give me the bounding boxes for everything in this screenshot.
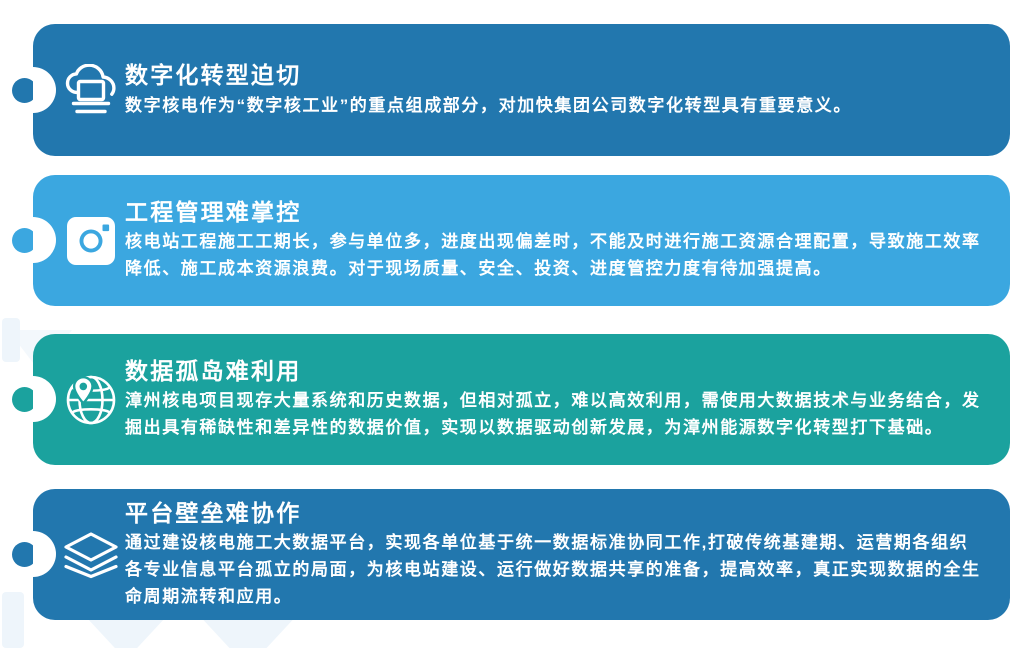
card-row[interactable]: 平台壁垒难协作 通过建设核电施工大数据平台，实现各单位基于统一数据标准协同工作,… <box>0 489 1027 620</box>
card-text: 数据孤岛难利用 漳州核电项目现存大量系统和历史数据，但相对孤立，难以高效利用，需… <box>125 357 1010 441</box>
card-title: 平台壁垒难协作 <box>125 499 984 528</box>
card-list: 数字化转型迫切 数字核电作为“数字核工业”的重点组成部分，对加快集团公司数字化转… <box>0 0 1027 648</box>
card-content: 平台壁垒难协作 通过建设核电施工大数据平台，实现各单位基于统一数据标准协同工作,… <box>33 489 1010 620</box>
cloud-monitor-icon <box>33 64 125 116</box>
globe-pin-icon <box>33 374 125 426</box>
card-text: 数字化转型迫切 数字核电作为“数字核工业”的重点组成部分，对加快集团公司数字化转… <box>125 61 1010 119</box>
card-title: 数据孤岛难利用 <box>125 357 984 386</box>
card-content: 数据孤岛难利用 漳州核电项目现存大量系统和历史数据，但相对孤立，难以高效利用，需… <box>33 334 1010 465</box>
card-description: 漳州核电项目现存大量系统和历史数据，但相对孤立，难以高效利用，需使用大数据技术与… <box>125 387 984 441</box>
card-text: 平台壁垒难协作 通过建设核电施工大数据平台，实现各单位基于统一数据标准协同工作,… <box>125 499 1010 610</box>
card-content: 数字化转型迫切 数字核电作为“数字核工业”的重点组成部分，对加快集团公司数字化转… <box>33 24 1010 156</box>
card-row[interactable]: 数字化转型迫切 数字核电作为“数字核工业”的重点组成部分，对加快集团公司数字化转… <box>0 24 1027 156</box>
layers-stack-icon <box>33 531 125 579</box>
card-title: 数字化转型迫切 <box>125 61 984 90</box>
card-title: 工程管理难掌控 <box>125 198 984 227</box>
card-row[interactable]: 数据孤岛难利用 漳州核电项目现存大量系统和历史数据，但相对孤立，难以高效利用，需… <box>0 334 1027 465</box>
card-description: 数字核电作为“数字核工业”的重点组成部分，对加快集团公司数字化转型具有重要意义。 <box>125 92 984 119</box>
camera-icon <box>33 215 125 267</box>
card-description: 核电站工程施工工期长，参与单位多，进度出现偏差时，不能及时进行施工资源合理配置，… <box>125 228 984 282</box>
card-description: 通过建设核电施工大数据平台，实现各单位基于统一数据标准协同工作,打破传统基建期、… <box>125 529 984 611</box>
card-row[interactable]: 工程管理难掌控 核电站工程施工工期长，参与单位多，进度出现偏差时，不能及时进行施… <box>0 175 1027 306</box>
card-text: 工程管理难掌控 核电站工程施工工期长，参与单位多，进度出现偏差时，不能及时进行施… <box>125 198 1010 282</box>
card-content: 工程管理难掌控 核电站工程施工工期长，参与单位多，进度出现偏差时，不能及时进行施… <box>33 175 1010 306</box>
